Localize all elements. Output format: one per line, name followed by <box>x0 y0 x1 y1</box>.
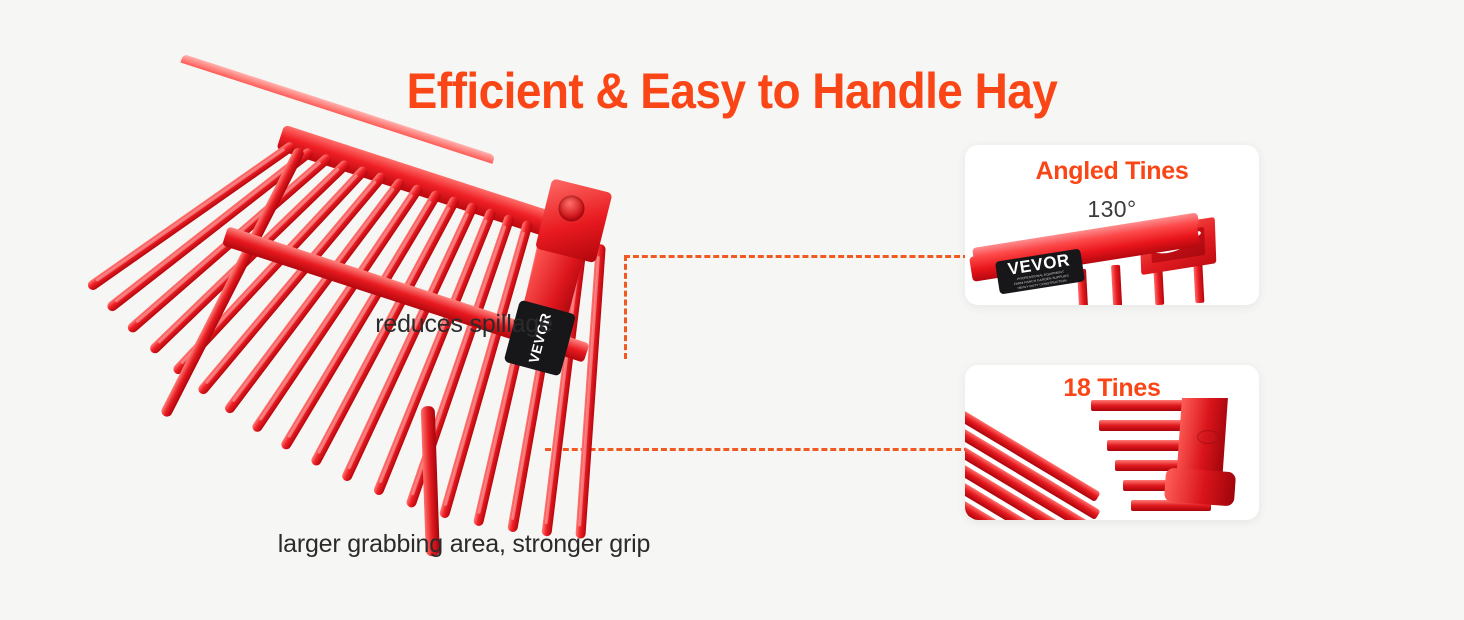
feature-card-18-tines[interactable]: 18 Tines <box>965 365 1259 520</box>
feature-caption-text: larger grabbing area, stronger grip <box>278 530 650 559</box>
closeup-lower-post <box>1164 468 1236 507</box>
feature-card-angled-tines[interactable]: Angled Tines 130° VEVOR PROFESSIONAL EQU… <box>965 145 1259 305</box>
feature-caption-grip: larger grabbing area, stronger grip <box>0 530 1464 559</box>
feature-caption-text: reduces spillage <box>375 310 552 339</box>
closeup-tine <box>1111 265 1122 305</box>
feature-image-18-tines <box>965 398 1259 520</box>
feature-caption-spillage: reduces spillage <box>0 310 1464 339</box>
product-image: VEVOR <box>130 150 670 570</box>
closeup-bolt-icon <box>1197 430 1219 444</box>
feature-card-title: Angled Tines <box>965 157 1259 186</box>
feature-image-angled-tines: VEVOR PROFESSIONAL EQUIPMENTFARM RANCH G… <box>965 217 1259 305</box>
product-feature-banner: Efficient & Easy to Handle Hay <box>0 0 1464 600</box>
